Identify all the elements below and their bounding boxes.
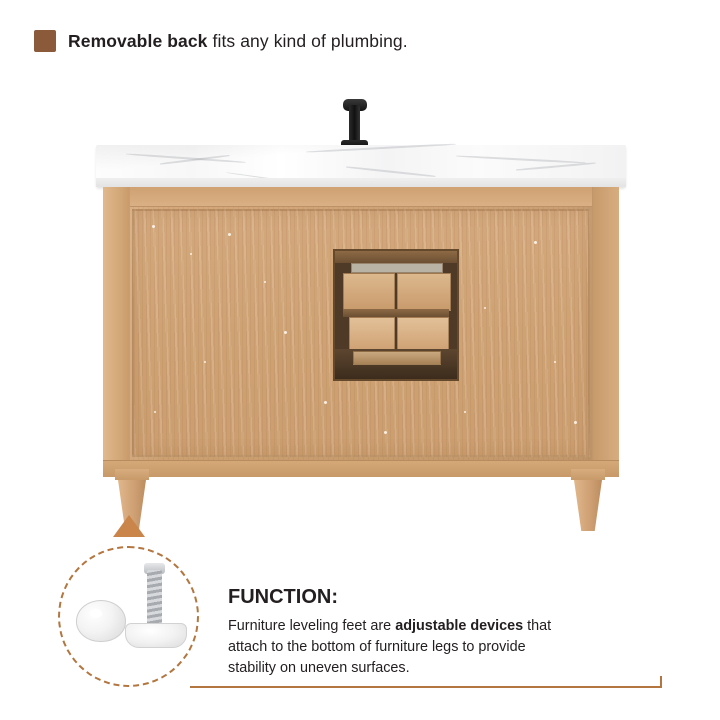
cabinet-left-stile bbox=[103, 187, 130, 477]
function-line1-post: that bbox=[523, 618, 551, 634]
function-line2: attach to the bottom of furniture legs t… bbox=[228, 639, 526, 655]
header-strong-text: Removable back bbox=[68, 31, 208, 51]
pointer-triangle-icon bbox=[113, 515, 145, 537]
function-text-block: FUNCTION: Furniture leveling feet are ad… bbox=[228, 586, 658, 679]
header-bullet-line: Removable back fits any kind of plumbing… bbox=[34, 30, 408, 52]
header-text: Removable back fits any kind of plumbing… bbox=[68, 31, 408, 52]
header-rest-text: fits any kind of plumbing. bbox=[208, 31, 408, 51]
function-title: FUNCTION: bbox=[228, 586, 658, 609]
removable-back-panel bbox=[132, 209, 590, 457]
function-line3: stability on uneven surfaces. bbox=[228, 660, 410, 676]
leveling-foot-screw-icon bbox=[147, 570, 162, 626]
function-description: Furniture leveling feet are adjustable d… bbox=[228, 616, 658, 679]
accent-underline-cap bbox=[660, 676, 662, 688]
leveling-foot-knob-icon bbox=[76, 600, 126, 642]
plumbing-cutout bbox=[333, 249, 459, 381]
function-line1-pre: Furniture leveling feet are bbox=[228, 618, 395, 634]
square-bullet-icon bbox=[34, 30, 56, 52]
product-image bbox=[0, 80, 720, 550]
cabinet-back-panel-assembly bbox=[103, 187, 619, 477]
vanity-leg-right bbox=[571, 469, 605, 531]
accent-underline bbox=[190, 686, 662, 688]
cabinet-right-stile bbox=[592, 187, 619, 477]
countertop bbox=[96, 145, 626, 187]
function-line1-strong: adjustable devices bbox=[395, 618, 523, 634]
cabinet-bottom-rail bbox=[103, 460, 619, 477]
cabinet-top-rail bbox=[103, 187, 619, 207]
leveling-foot-base-icon bbox=[125, 623, 187, 648]
